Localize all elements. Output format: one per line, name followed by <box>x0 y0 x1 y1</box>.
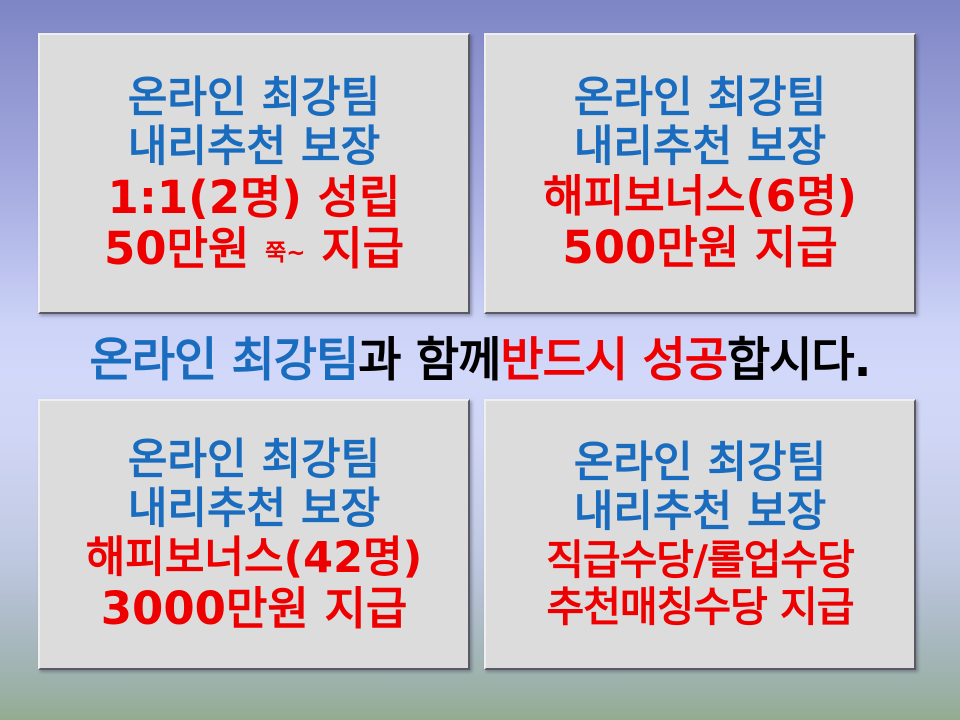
banner-segment-black-1: 과 함께 <box>358 337 500 384</box>
panel-br-line-1: 온라인 최강팀 <box>486 442 914 485</box>
banner-segment-blue: 온라인 최강팀 <box>89 337 358 384</box>
panel-tr-line-2: 내리추천 보장 <box>486 126 914 169</box>
promo-panel-bottom-right: 온라인 최강팀 내리추천 보장 직급수당/롤업수당 추천매칭수당 지급 <box>484 399 916 670</box>
panel-bl-line-2: 내리추천 보장 <box>40 488 468 531</box>
banner-segment-red: 반드시 성공 <box>500 337 727 384</box>
panel-tl-line-4-tail: 지급 <box>306 222 404 275</box>
panel-br-line-3: 직급수당/롤업수당 <box>486 540 914 581</box>
promo-panel-top-right: 온라인 최강팀 내리추천 보장 해피보너스(6명) 500만원 지급 <box>484 33 916 314</box>
panel-tl-line-4: 50만원 쭉~ 지급 <box>40 226 468 271</box>
panel-br-line-2: 내리추천 보장 <box>486 491 914 534</box>
panel-tl-line-1: 온라인 최강팀 <box>40 77 468 120</box>
promo-panel-bottom-left: 온라인 최강팀 내리추천 보장 해피보너스(42명) 3000만원 지급 <box>38 399 470 670</box>
panel-bl-line-3: 해피보너스(42명) <box>40 537 468 580</box>
panel-tl-line-3: 1:1(2명) 성립 <box>40 175 468 220</box>
slide-canvas: 온라인 최강팀 내리추천 보장 1:1(2명) 성립 50만원 쭉~ 지급 온라… <box>0 0 960 720</box>
panel-br-line-4: 추천매칭수당 지급 <box>486 587 914 628</box>
panel-tr-line-4: 500만원 지급 <box>486 225 914 270</box>
panel-tl-line-4-accent: 쭉~ <box>265 240 305 266</box>
panel-tr-line-1: 온라인 최강팀 <box>486 77 914 120</box>
banner-segment-black-2: 합시다. <box>727 337 871 384</box>
panel-tl-line-4-amount: 50만원 <box>104 222 265 275</box>
panel-bl-line-1: 온라인 최강팀 <box>40 439 468 482</box>
panel-tl-line-2: 내리추천 보장 <box>40 126 468 169</box>
panel-tr-line-3: 해피보너스(6명) <box>486 175 914 219</box>
panel-bl-line-4: 3000만원 지급 <box>40 586 468 631</box>
promo-panel-top-left: 온라인 최강팀 내리추천 보장 1:1(2명) 성립 50만원 쭉~ 지급 <box>38 33 470 314</box>
center-banner: 온라인 최강팀과 함께 반드시 성공합시다. <box>0 329 960 391</box>
